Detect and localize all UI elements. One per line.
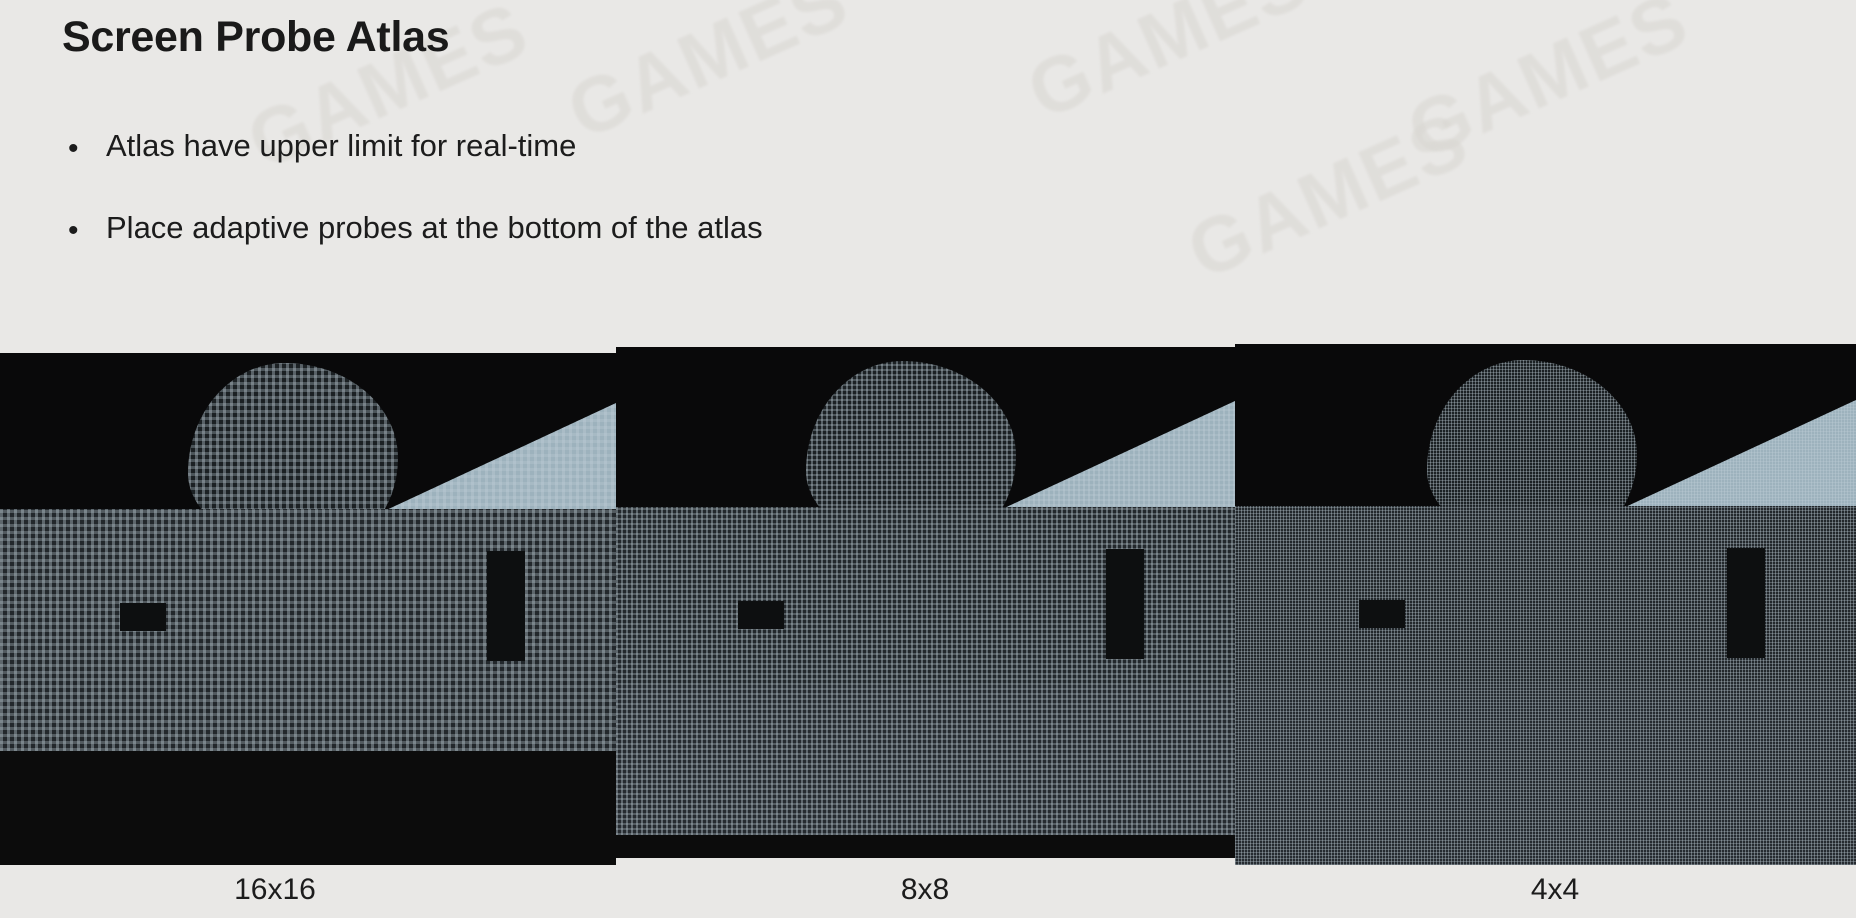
window-rect [1727,548,1765,658]
atlas-panel-4x4 [1235,344,1856,865]
atlas-panel-16x16 [0,353,616,865]
atlas-panel-8x8 [616,347,1235,858]
window-rect [1106,549,1144,659]
atlas-render-4x4 [1235,344,1856,865]
bullet-marker-icon: • [68,128,106,164]
atlas-comparison-figure [0,295,1856,918]
bullet-text: Atlas have upper limit for real-time [106,128,576,164]
bullet-item-1: • Atlas have upper limit for real-time [68,128,576,164]
adaptive-probe-grid [1235,682,1856,865]
atlas-label-16x16: 16x16 [234,873,316,907]
watermark-text: GAMES [554,0,861,157]
window-rect [487,551,525,661]
atlas-render-8x8 [616,347,1235,835]
watermark-text: GAMES [1174,94,1481,298]
window-rect-small [1359,600,1405,628]
atlas-label-row: 16x16 8x8 4x4 [0,865,1856,918]
watermark-text: GAMES [1394,0,1701,177]
bullet-text: Place adaptive probes at the bottom of t… [106,210,763,246]
watermark-text: GAMES [1014,0,1321,137]
window-rect-small [738,601,784,629]
bullet-marker-icon: • [68,210,106,246]
bullet-item-2: • Place adaptive probes at the bottom of… [68,210,763,246]
atlas-label-4x4: 4x4 [1531,873,1579,907]
atlas-label-8x8: 8x8 [901,873,949,907]
adaptive-probe-grid [616,685,1235,835]
page-title: Screen Probe Atlas [62,13,449,62]
atlas-render-16x16 [0,353,616,751]
window-rect-small [120,603,166,631]
